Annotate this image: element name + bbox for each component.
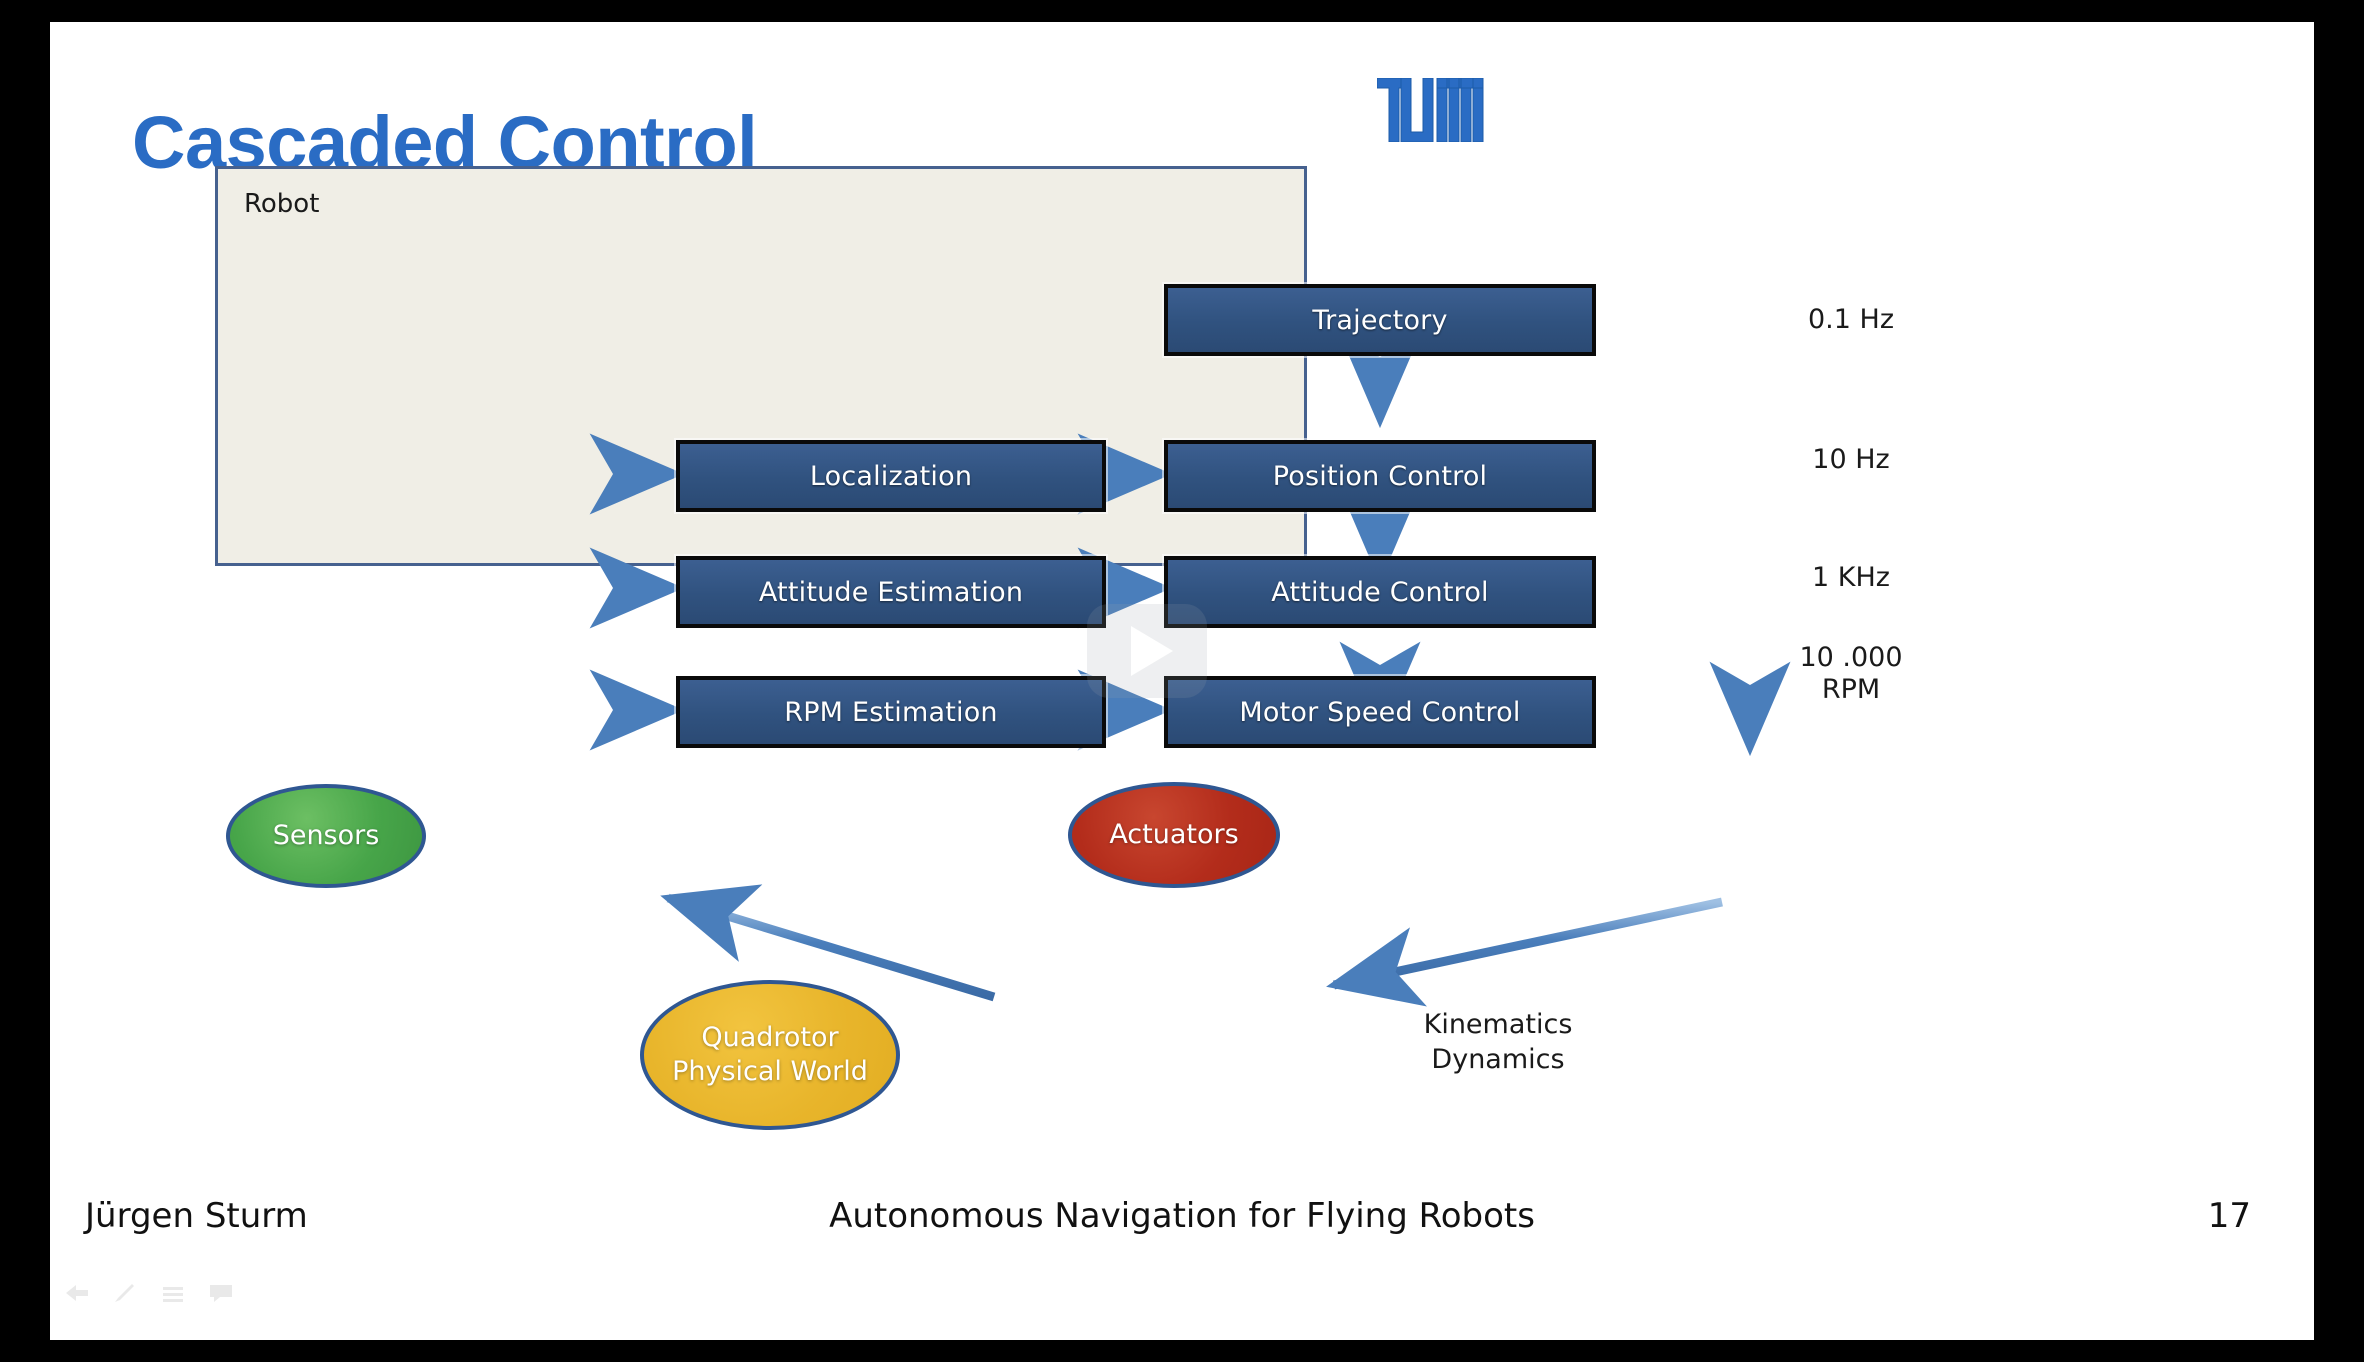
node-sensors[interactable]: Sensors	[226, 784, 426, 888]
block-position-control[interactable]: Position Control	[1164, 440, 1596, 512]
block-attitude-control[interactable]: Attitude Control	[1164, 556, 1596, 628]
block-trajectory[interactable]: Trajectory	[1164, 284, 1596, 356]
slide-footer: Jürgen Sturm Autonomous Navigation for F…	[50, 1196, 2314, 1266]
block-label: Attitude Control	[1271, 577, 1489, 608]
presentation-slide: Cascaded Control Robot	[50, 22, 2314, 1340]
block-label: Trajectory	[1312, 305, 1447, 336]
block-localization[interactable]: Localization	[676, 440, 1106, 512]
block-label: Localization	[810, 461, 972, 492]
rate-label-trajectory: 0.1 Hz	[1756, 304, 1946, 336]
block-motor-speed-control[interactable]: Motor Speed Control	[1164, 676, 1596, 748]
pen-icon[interactable]	[112, 1281, 138, 1310]
rate-label-motor: 10 .000 RPM	[1756, 642, 1946, 706]
node-quadrotor-physical-world[interactable]: Quadrotor Physical World	[640, 980, 900, 1130]
node-label-line1: Quadrotor	[701, 1021, 838, 1055]
node-label-line2: Physical World	[672, 1055, 868, 1089]
block-label: Motor Speed Control	[1239, 697, 1520, 728]
node-label: Actuators	[1109, 818, 1238, 852]
presenter-toolbar[interactable]	[64, 1278, 244, 1312]
slide-root: Cascaded Control Robot	[0, 0, 2364, 1362]
rate-label-attitude: 1 KHz	[1756, 562, 1946, 594]
footer-page-number: 17	[2208, 1196, 2251, 1236]
physics-note: Kinematics Dynamics	[1388, 1007, 1608, 1077]
play-icon[interactable]	[1087, 604, 1207, 698]
footer-course-title: Autonomous Navigation for Flying Robots	[50, 1196, 2314, 1236]
comment-icon[interactable]	[208, 1281, 234, 1310]
block-label: RPM Estimation	[784, 697, 998, 728]
node-actuators[interactable]: Actuators	[1068, 782, 1280, 888]
node-label: Sensors	[273, 819, 380, 853]
tum-logo	[1377, 78, 1493, 142]
block-label: Attitude Estimation	[759, 577, 1023, 608]
menu-icon[interactable]	[160, 1281, 186, 1310]
robot-container-label: Robot	[244, 189, 319, 219]
block-label: Position Control	[1273, 461, 1488, 492]
pointer-icon[interactable]	[64, 1281, 90, 1310]
block-rpm-estimation[interactable]: RPM Estimation	[676, 676, 1106, 748]
rate-label-position: 10 Hz	[1756, 444, 1946, 476]
block-attitude-estimation[interactable]: Attitude Estimation	[676, 556, 1106, 628]
